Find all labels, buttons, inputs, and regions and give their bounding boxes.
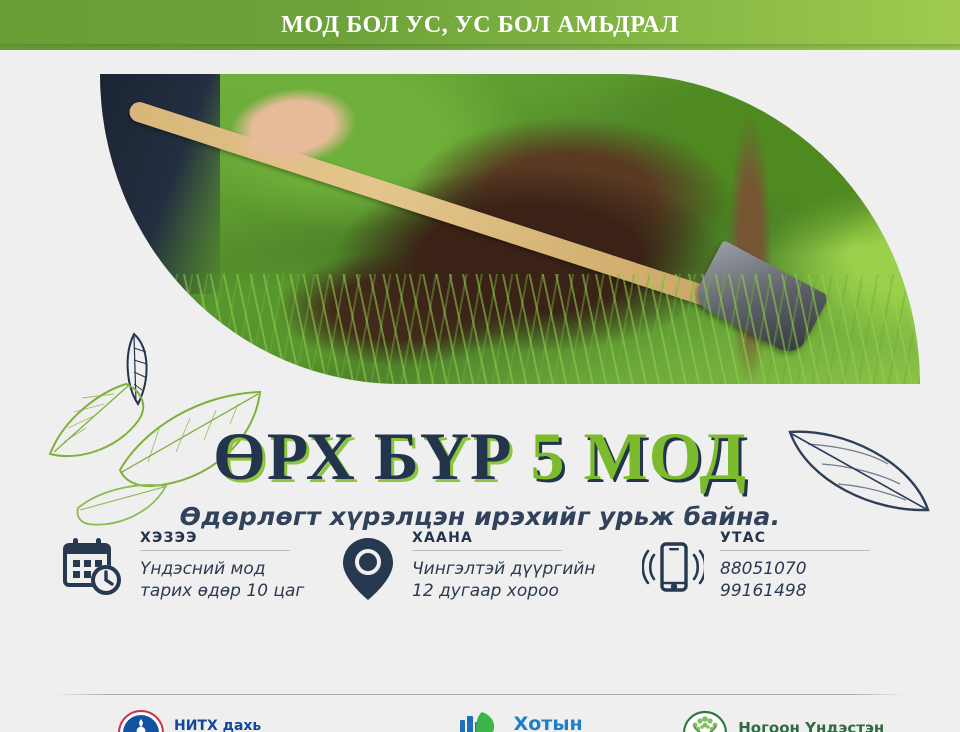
footer-logos: НИТХ дахь Ардчилсан Намын Бүлэг	[0, 710, 960, 732]
title-part-green: 5 МОД	[531, 418, 747, 494]
city-solution-icon	[456, 710, 504, 732]
logo-nogoon-label: Ногоон Үндэстэн Төрийн бус Байгууллага	[738, 719, 884, 732]
headline-block: ӨРХ БҮР 5 МОД Өдөрлөгт хүрэлцэн ирэхийг …	[0, 422, 960, 531]
photo-person-trousers	[100, 74, 220, 294]
logo-nogoon-name: Ногоон Үндэстэн	[738, 719, 884, 732]
banner-slogan: МОД БОЛ УС, УС БОЛ АМЬДРАЛ	[281, 12, 679, 39]
info-label-where: ХААНА	[412, 530, 595, 546]
info-underline-phone	[720, 550, 870, 551]
info-row: ХЭЗЭЭ Үндэсний мод тарих өдөр 10 цаг ХАА…	[0, 528, 960, 640]
ringing-phone-icon	[642, 536, 704, 603]
poster-body: ӨРХ БҮР 5 МОД Өдөрлөгт хүрэлцэн ирэхийг …	[0, 50, 960, 732]
calendar-clock-icon	[62, 536, 124, 603]
top-banner: МОД БОЛ УС, УС БОЛ АМЬДРАЛ	[0, 0, 960, 50]
soyombo-emblem-icon	[118, 710, 164, 732]
logo-khotyn-shiidel: Хотын Шийдэл	[456, 710, 605, 732]
page-subtitle: Өдөрлөгт хүрэлцэн ирэхийг урьж байна.	[0, 502, 960, 531]
title-part-dark: ӨРХ БҮР	[213, 418, 513, 494]
info-value-where: Чингэлтэй дүүргийн 12 дугаар хороо	[412, 558, 595, 603]
info-value-when: Үндэсний мод тарих өдөр 10 цаг	[140, 558, 304, 603]
info-text-where: ХААНА Чингэлтэй дүүргийн 12 дугаар хороо	[412, 528, 595, 603]
info-text-when: ХЭЗЭЭ Үндэсний мод тарих өдөр 10 цаг	[140, 528, 304, 603]
logo-nogoon-undesten: Ногоон Үндэстэн Төрийн бус Байгууллага	[682, 710, 884, 732]
logo-khotyn-line1: Хотын	[514, 714, 605, 732]
info-item-where: ХААНА Чингэлтэй дүүргийн 12 дугаар хороо	[330, 528, 620, 640]
info-label-when: ХЭЗЭЭ	[140, 530, 304, 546]
green-nation-tree-icon	[682, 710, 728, 732]
info-label-phone: УТАС	[720, 530, 870, 546]
info-underline-where	[412, 550, 562, 551]
info-item-when: ХЭЗЭЭ Үндэсний мод тарих өдөр 10 цаг	[0, 528, 330, 640]
logo-khotyn-shiidel-label: Хотын Шийдэл	[514, 714, 605, 732]
footer-divider	[55, 694, 905, 695]
logo-nitkh: НИТХ дахь Ардчилсан Намын Бүлэг	[118, 710, 374, 732]
info-text-phone: УТАС 88051070 99161498	[720, 528, 870, 603]
info-underline-when	[140, 550, 290, 551]
info-value-phone: 88051070 99161498	[720, 558, 870, 603]
map-pin-icon	[340, 536, 396, 607]
page-title: ӨРХ БҮР 5 МОД	[0, 422, 960, 490]
poster-canvas: МОД БОЛ УС, УС БОЛ АМЬДРАЛ	[0, 0, 960, 732]
logo-nitkh-label: НИТХ дахь Ардчилсан Намын Бүлэг	[174, 717, 374, 732]
info-item-phone: УТАС 88051070 99161498	[620, 528, 960, 640]
